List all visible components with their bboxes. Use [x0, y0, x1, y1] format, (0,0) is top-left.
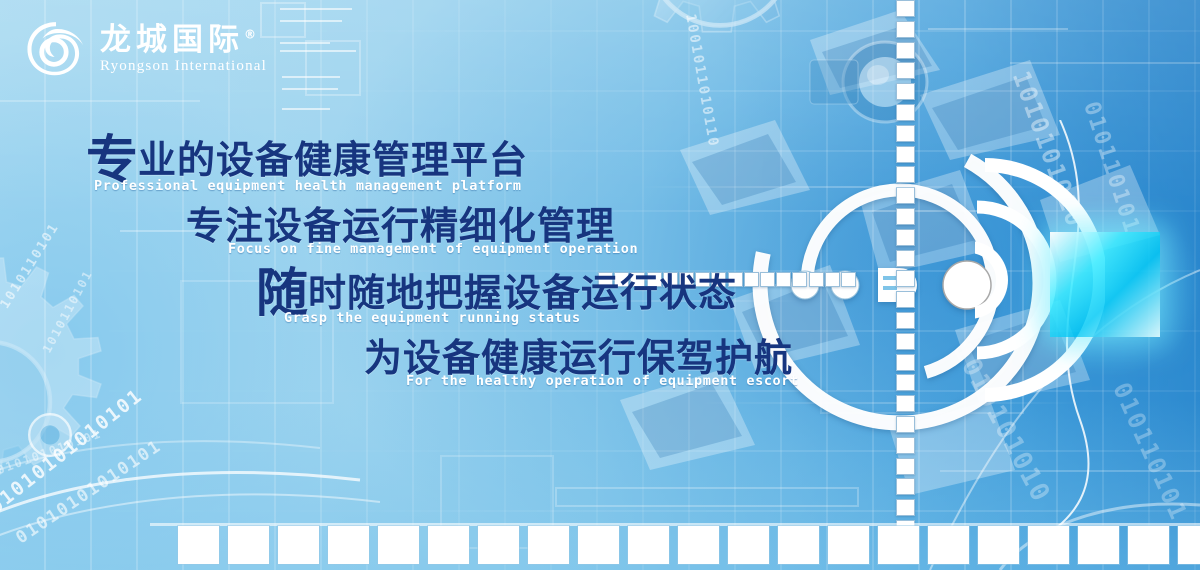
headline-line-3: 随时随地把握设备运行状态 Grasp the equipment running…	[0, 271, 830, 327]
logo-company-name-cn: 龙城国际®	[100, 23, 267, 57]
chain-square	[896, 458, 915, 475]
headline-line-1: 专业的设备健康管理平台 Professional equipment healt…	[0, 138, 830, 194]
chain-square	[896, 312, 915, 329]
chain-square	[896, 478, 915, 495]
filmstrip-cell	[728, 526, 769, 564]
filmstrip-cell	[178, 526, 219, 564]
chain-square	[896, 333, 915, 350]
brand-logo[interactable]: 龙城国际® Ryongson International	[22, 14, 267, 82]
headline-block: 专业的设备健康管理平台 Professional equipment healt…	[0, 138, 830, 403]
filmstrip-cell	[278, 526, 319, 564]
registered-trademark-icon: ®	[244, 28, 256, 42]
filmstrip-cell	[928, 526, 969, 564]
chain-square	[896, 42, 915, 59]
filmstrip-cell	[1028, 526, 1069, 564]
headline-en-3: Grasp the equipment running status	[256, 310, 830, 326]
schematic-tick	[280, 42, 330, 44]
schematic-tick	[282, 108, 330, 110]
vertical-square-chain	[896, 0, 920, 540]
filmstrip-cell	[828, 526, 869, 564]
schematic-tick	[282, 88, 338, 90]
filmstrip-cell	[1078, 526, 1119, 564]
filmstrip-cell	[378, 526, 419, 564]
chain-square	[896, 166, 915, 183]
filmstrip-cell	[1128, 526, 1169, 564]
chain-square	[896, 229, 915, 246]
filmstrip	[178, 526, 1200, 564]
chain-square	[896, 21, 915, 38]
filmstrip-cell	[978, 526, 1019, 564]
logo-company-name-en: Ryongson International	[100, 58, 267, 75]
headline-en-4: For the healthy operation of equipment e…	[364, 373, 830, 389]
chain-square	[896, 437, 915, 454]
filmstrip-cell	[528, 526, 569, 564]
chain-square	[896, 354, 915, 371]
chain-square	[896, 0, 915, 17]
chain-square	[896, 291, 915, 308]
chain-square	[896, 187, 915, 204]
chain-square	[841, 272, 856, 287]
logo-text-block: 龙城国际® Ryongson International	[100, 21, 267, 75]
headline-line-2: 专注设备运行精细化管理 Focus on fine management of …	[0, 208, 830, 257]
filmstrip-cell	[428, 526, 469, 564]
chain-square	[896, 125, 915, 142]
chain-square	[896, 146, 915, 163]
chain-square	[896, 83, 915, 100]
chain-square	[896, 62, 915, 79]
headline-line-4: 为设备健康运行保驾护航 For the healthy operation of…	[0, 340, 830, 389]
headline-cn-1-rest: 业的设备健康管理平台	[138, 140, 528, 182]
schematic-tick	[282, 76, 340, 78]
filmstrip-cell	[878, 526, 919, 564]
chain-square	[896, 416, 915, 433]
filmstrip-cell	[678, 526, 719, 564]
cyan-accent-panel	[1050, 232, 1160, 337]
filmstrip-cell	[228, 526, 269, 564]
ryongson-swirl-logo-icon	[22, 14, 90, 82]
chain-square	[896, 270, 915, 287]
filmstrip-cell	[628, 526, 669, 564]
chain-square	[896, 208, 915, 225]
headline-en-2: Focus on fine management of equipment op…	[186, 241, 830, 257]
schematic-tick	[280, 20, 342, 22]
filmstrip-cell	[328, 526, 369, 564]
headline-en-1: Professional equipment health management…	[86, 178, 830, 194]
chain-square	[896, 499, 915, 516]
filmstrip-cell	[1178, 526, 1200, 564]
schematic-tick	[280, 50, 356, 52]
filmstrip-cell	[478, 526, 519, 564]
schematic-tick	[1010, 62, 1200, 64]
marketing-banner: 01010101010101 01010101010101 1010110101…	[0, 0, 1200, 570]
schematic-tick	[0, 100, 200, 102]
headline-cn-3-rest: 时随地把握设备运行状态	[308, 273, 737, 315]
filmstrip-cell	[578, 526, 619, 564]
filmstrip-cell	[778, 526, 819, 564]
schematic-tick	[280, 8, 352, 10]
chain-square	[896, 374, 915, 391]
chain-square	[896, 104, 915, 121]
chain-square	[896, 250, 915, 267]
